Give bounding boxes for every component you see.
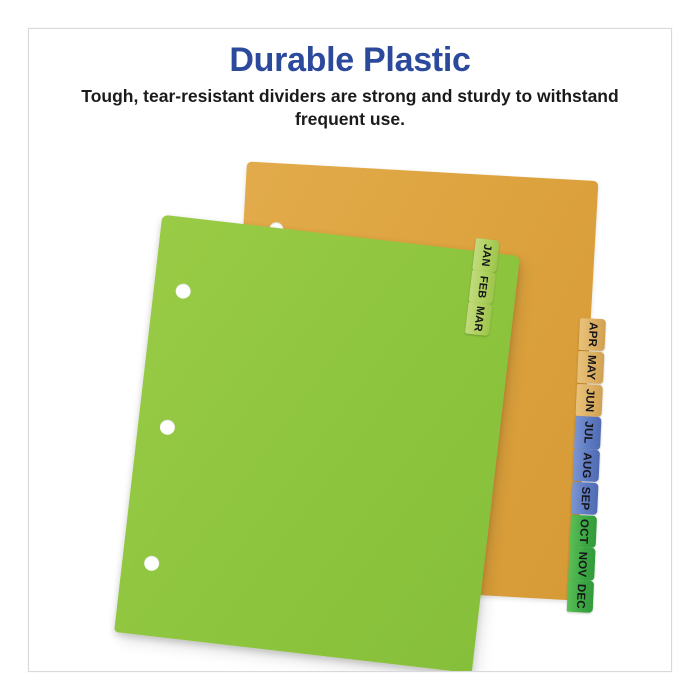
tab-dec[interactable]: DEC bbox=[567, 580, 594, 613]
punch-hole-icon bbox=[175, 283, 192, 300]
tab-mar-label: MAR bbox=[471, 305, 486, 332]
tab-apr[interactable]: APR bbox=[579, 318, 606, 351]
tab-jan[interactable]: JAN bbox=[472, 238, 499, 272]
tab-aug[interactable]: AUG bbox=[573, 449, 600, 482]
tab-mar[interactable]: MAR bbox=[465, 302, 492, 336]
tab-oct-label: OCT bbox=[577, 518, 590, 543]
tab-jul-label: JUL bbox=[581, 421, 594, 444]
tab-sep-label: SEP bbox=[578, 486, 591, 510]
product-feature-card: APR MAY JUN JUL AUG SEP OCT NOV bbox=[0, 0, 700, 700]
tab-jan-label: JAN bbox=[479, 243, 494, 267]
tab-jun[interactable]: JUN bbox=[576, 383, 603, 416]
tab-may[interactable]: MAY bbox=[577, 351, 604, 384]
green-divider-sheet bbox=[114, 215, 520, 671]
tab-feb[interactable]: FEB bbox=[469, 270, 496, 304]
page-subtitle: Tough, tear-resistant dividers are stron… bbox=[30, 85, 670, 130]
tab-oct[interactable]: OCT bbox=[570, 514, 597, 547]
tab-jun-label: JUN bbox=[583, 388, 596, 412]
tab-may-label: MAY bbox=[584, 355, 597, 381]
tab-apr-label: APR bbox=[586, 322, 599, 347]
tab-nov[interactable]: NOV bbox=[568, 547, 595, 580]
header-block: Durable Plastic Tough, tear-resistant di… bbox=[30, 42, 670, 130]
page-title: Durable Plastic bbox=[30, 42, 670, 79]
tab-aug-label: AUG bbox=[580, 452, 593, 479]
tab-nov-label: NOV bbox=[575, 551, 588, 577]
punch-hole-icon bbox=[159, 419, 176, 436]
tab-sep[interactable]: SEP bbox=[571, 482, 598, 515]
tab-jul[interactable]: JUL bbox=[574, 416, 601, 449]
punch-hole-icon bbox=[143, 555, 160, 572]
tab-dec-label: DEC bbox=[574, 584, 587, 609]
tab-feb-label: FEB bbox=[475, 275, 490, 299]
